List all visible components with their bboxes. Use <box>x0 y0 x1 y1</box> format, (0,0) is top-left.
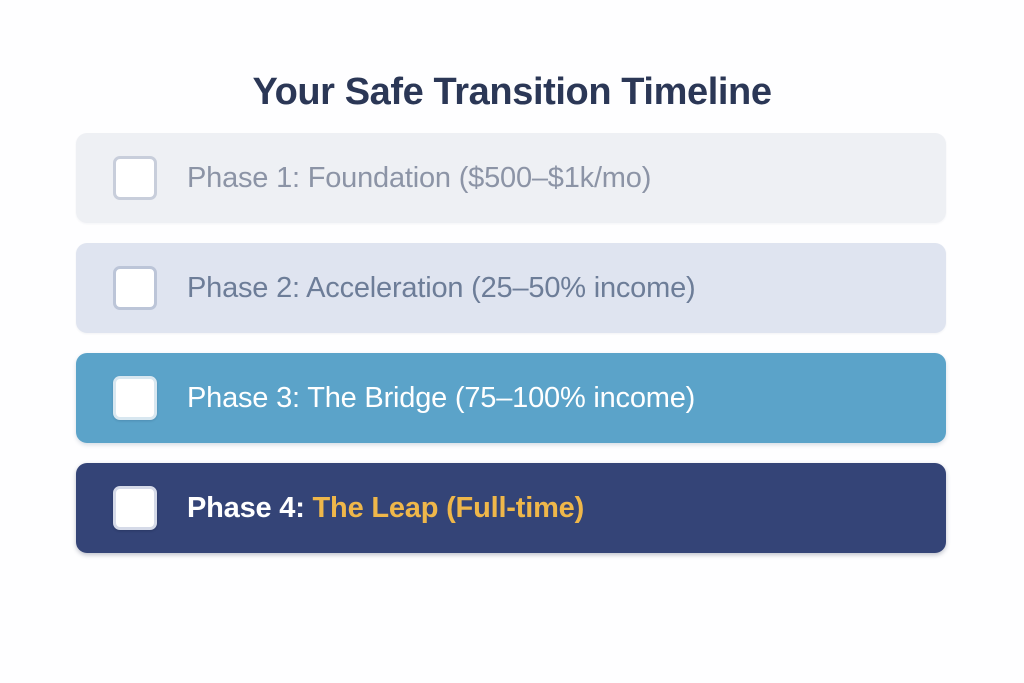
phase-label-4-prefix: Phase 4: <box>187 492 313 524</box>
checkbox-unchecked-icon[interactable] <box>113 486 157 530</box>
phase-label-4-accent: The Leap (Full-time) <box>313 492 585 524</box>
phase-checklist: Phase 1: Foundation ($500–$1k/mo) Phase … <box>76 133 946 553</box>
phase-label-2: Phase 2: Acceleration (25–50% income) <box>187 272 695 305</box>
checkbox-unchecked-icon[interactable] <box>113 156 157 200</box>
phase-label-1: Phase 1: Foundation ($500–$1k/mo) <box>187 162 651 195</box>
phase-row-1[interactable]: Phase 1: Foundation ($500–$1k/mo) <box>76 133 946 223</box>
timeline-infographic: Your Safe Transition Timeline Phase 1: F… <box>0 0 1024 683</box>
checkbox-unchecked-icon[interactable] <box>113 266 157 310</box>
checkbox-unchecked-icon[interactable] <box>113 376 157 420</box>
phase-row-3[interactable]: Phase 3: The Bridge (75–100% income) <box>76 353 946 443</box>
phase-label-4: Phase 4: The Leap (Full-time) <box>187 492 584 525</box>
phase-row-4[interactable]: Phase 4: The Leap (Full-time) <box>76 463 946 553</box>
page-title: Your Safe Transition Timeline <box>0 71 1024 115</box>
phase-label-3: Phase 3: The Bridge (75–100% income) <box>187 382 695 415</box>
phase-row-2[interactable]: Phase 2: Acceleration (25–50% income) <box>76 243 946 333</box>
